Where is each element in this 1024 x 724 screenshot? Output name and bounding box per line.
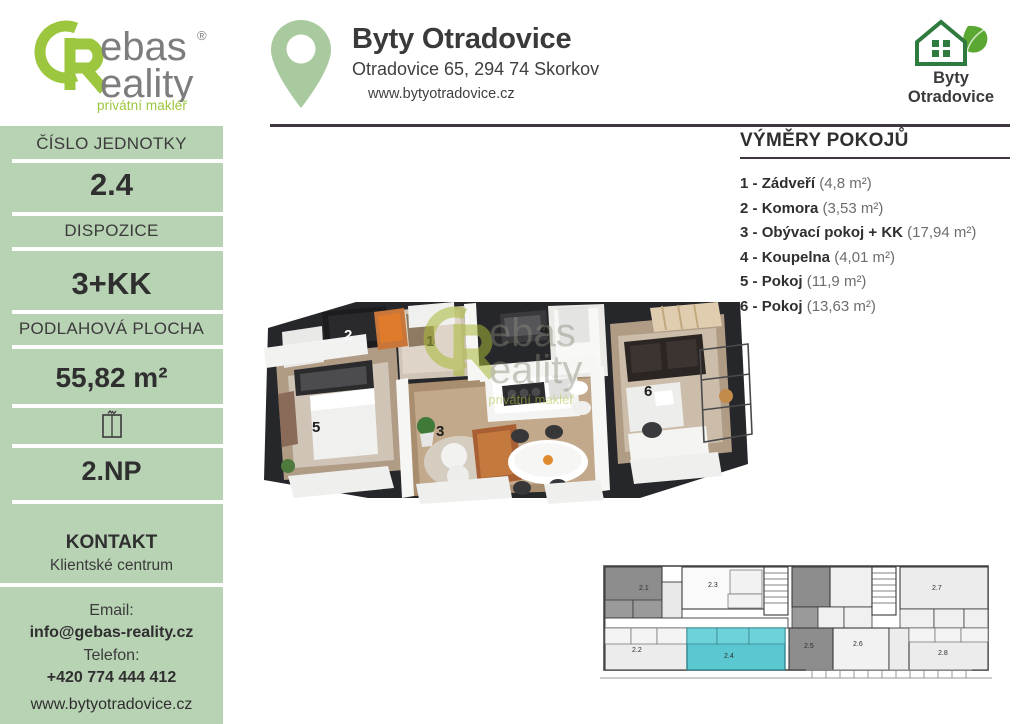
info-sidebar: ČÍSLO JEDNOTKY 2.4 DISPOZICE 3+KK PODLAH…	[0, 126, 223, 724]
sidebar-divider-full	[0, 583, 223, 587]
room-name: Pokoj	[762, 298, 803, 315]
byty-otradovice-logo: Byty Otradovice	[888, 16, 1014, 110]
floorplan-render: 1 2 3 4 5 6	[248, 284, 764, 506]
room-item: 2 - Komora (3,53 m²)	[740, 197, 1016, 221]
room-item: 3 - Obývací pokoj + KK (17,94 m²)	[740, 221, 1016, 245]
sidebar-divider	[12, 500, 235, 504]
room-name: Obývací pokoj + KK	[762, 224, 903, 241]
elevator-availability	[0, 410, 223, 443]
room-areas-divider	[740, 157, 1010, 160]
house-with-leaf-icon	[907, 16, 995, 68]
key-plan-drawing: 2.1 2.3	[600, 560, 992, 688]
floorplan-room-number-5: 5	[312, 419, 320, 436]
floorplan-room-number-3: 3	[436, 423, 444, 440]
sidebar-divider	[12, 404, 235, 408]
phone-label: Telefon:	[0, 647, 223, 665]
room-number: 3 -	[740, 224, 758, 241]
unit-number-value: 2.4	[0, 168, 223, 202]
building-key-plan: 2.1 2.3	[600, 560, 992, 688]
unit-number-label: ČÍSLO JEDNOTKY	[0, 134, 223, 154]
room-area: (17,94 m²)	[907, 224, 976, 241]
sidebar-divider	[12, 212, 235, 216]
key-plan-unit-2-1: 2.1	[639, 585, 649, 592]
layout-label: DISPOZICE	[0, 221, 223, 241]
poster-page: ebas ® eality privátní makléř Byty Otrad…	[0, 0, 1024, 724]
room-item: 5 - Pokoj (11,9 m²)	[740, 270, 1016, 294]
room-areas-list: 1 - Zádveří (4,8 m²) 2 - Komora (3,53 m²…	[740, 172, 1016, 319]
apartment-3d-floorplan: 1 2 3 4 5 6 ebas eality privátní makléř	[248, 284, 764, 506]
page-title: Byty Otradovice	[352, 24, 599, 54]
email-value[interactable]: info@gebas-reality.cz	[0, 624, 223, 642]
logo-tagline: privátní makléř	[62, 98, 222, 113]
room-name: Koupelna	[762, 249, 830, 266]
header-address: Otradovice 65, 294 74 Skorkov	[352, 60, 599, 80]
right-logo-name-line2: Otradovice	[888, 89, 1014, 106]
floor-area-value: 55,82 m²	[0, 363, 223, 394]
room-item: 4 - Koupelna (4,01 m²)	[740, 246, 1016, 270]
floorplan-room-number-6: 6	[644, 383, 652, 400]
room-area: (13,63 m²)	[807, 298, 876, 315]
phone-value[interactable]: +420 774 444 412	[0, 669, 223, 687]
key-plan-unit-2-3: 2.3	[708, 582, 718, 589]
elevator-icon	[101, 410, 123, 438]
sidebar-divider	[12, 310, 235, 314]
header-text-group: Byty Otradovice Otradovice 65, 294 74 Sk…	[352, 24, 599, 103]
sidebar-divider	[12, 444, 235, 448]
location-pin-icon	[268, 18, 334, 110]
sidebar-divider	[12, 247, 235, 251]
room-name: Komora	[762, 200, 819, 217]
header-website: www.bytyotradovice.cz	[368, 87, 599, 103]
floorplan-room-number-2: 2	[344, 327, 352, 344]
room-area: (4,8 m²)	[819, 175, 872, 192]
room-name: Pokoj	[762, 273, 803, 290]
room-areas-title: VÝMĚRY POKOJŮ	[740, 131, 1016, 152]
room-name: Zádveří	[762, 175, 815, 192]
floor-area-label: PODLAHOVÁ PLOCHA	[0, 319, 223, 339]
floorplan-room-number-1: 1	[426, 333, 434, 350]
key-plan-unit-2-7: 2.7	[932, 585, 942, 592]
room-area: (3,53 m²)	[823, 200, 884, 217]
gebas-reality-logo-mark: ebas ® eality	[34, 18, 224, 102]
key-plan-unit-2-4: 2.4	[724, 653, 734, 660]
room-area: (4,01 m²)	[834, 249, 895, 266]
contact-subtitle: Klientské centrum	[0, 557, 223, 575]
sidebar-website-value[interactable]: www.bytyotradovice.cz	[0, 696, 223, 714]
contact-title: KONTAKT	[0, 532, 223, 554]
gebas-reality-logo: ebas ® eality privátní makléř	[34, 18, 224, 113]
email-label: Email:	[0, 602, 223, 620]
key-plan-unit-2-2: 2.2	[632, 647, 642, 654]
room-number: 2 -	[740, 200, 758, 217]
right-logo-name-line1: Byty	[888, 70, 1014, 87]
room-item: 1 - Zádveří (4,8 m²)	[740, 172, 1016, 196]
floor-level-value: 2.NP	[0, 457, 223, 487]
floorplan-room-number-4: 4	[540, 321, 549, 338]
svg-text:®: ®	[197, 28, 207, 43]
header-divider	[270, 124, 1010, 127]
room-item: 6 - Pokoj (13,63 m²)	[740, 295, 1016, 319]
svg-text:eality: eality	[100, 62, 193, 102]
room-area: (11,9 m²)	[807, 273, 867, 290]
key-plan-unit-2-6: 2.6	[853, 641, 863, 648]
room-number: 1 -	[740, 175, 758, 192]
sidebar-divider	[12, 159, 235, 163]
header-block: Byty Otradovice Otradovice 65, 294 74 Sk…	[268, 12, 688, 112]
sidebar-divider	[12, 345, 235, 349]
room-number: 4 -	[740, 249, 758, 266]
key-plan-unit-2-5: 2.5	[804, 643, 814, 650]
room-areas-panel: VÝMĚRY POKOJŮ 1 - Zádveří (4,8 m²) 2 - K…	[740, 131, 1016, 319]
key-plan-unit-2-8: 2.8	[938, 650, 948, 657]
layout-value: 3+KK	[0, 267, 223, 301]
